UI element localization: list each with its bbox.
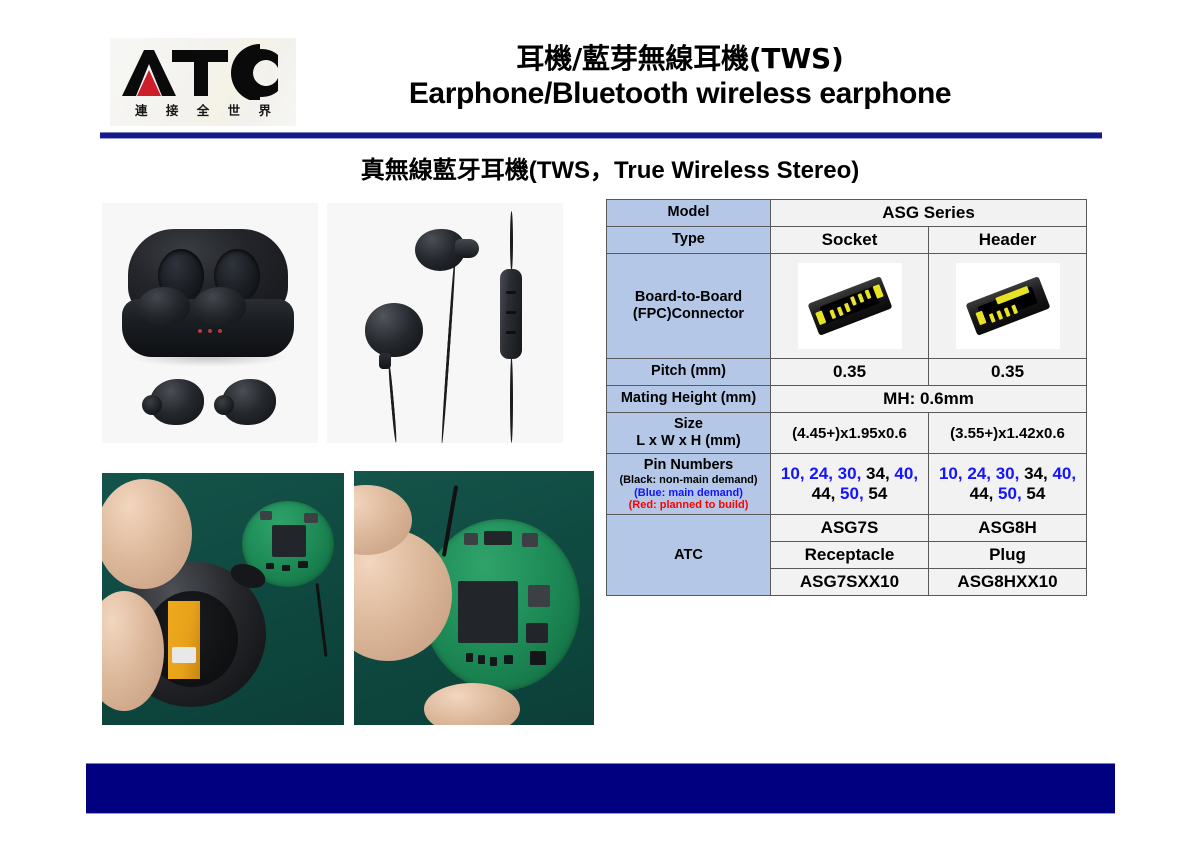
remote-button-up (506, 291, 516, 294)
earbud-in-case-right (194, 287, 246, 325)
pin-number: 44, (970, 484, 994, 503)
pin-number: 50, (998, 484, 1022, 503)
pcb-smd (282, 565, 290, 571)
row-label-connector-line1: Board-to-Board (611, 289, 766, 306)
case-led-3 (218, 329, 222, 333)
pin-number: 54 (1026, 484, 1045, 503)
row-label-size-line1: Size (611, 416, 766, 433)
table-row-connector: Board-to-Board (FPC)Connector (607, 254, 1087, 359)
pin-number: 10, (781, 464, 805, 483)
cell-atc-kind-socket: Receptacle (771, 542, 929, 569)
row-label-note-blue: (Blue: main demand) (611, 487, 766, 499)
cell-connector-header-image (929, 254, 1087, 359)
cell-connector-socket-image (771, 254, 929, 359)
row-label-note-red: (Red: planned to build) (611, 499, 766, 511)
earbud-in-case-left (138, 287, 190, 325)
connector-spec-table: Model ASG Series Type Socket Header Boar… (606, 199, 1087, 596)
header-connector-photo (956, 263, 1060, 349)
case-shadow (128, 355, 288, 367)
slide-header: 連 接 全 世 界 耳機/藍芽無線耳機(TWS) Earphone/Blueto… (0, 0, 1200, 132)
cell-model-value: ASG Series (771, 200, 1087, 227)
table-row-pin-numbers: Pin Numbers (Black: non-main demand) (Bl… (607, 454, 1087, 515)
cell-pitch-socket: 0.35 (771, 359, 929, 386)
pcb-main-chip (272, 525, 306, 557)
table-row-mating-height: Mating Height (mm) MH: 0.6mm (607, 386, 1087, 413)
pcb-smd (298, 561, 308, 568)
table-row-pitch: Pitch (mm) 0.35 0.35 (607, 359, 1087, 386)
earbud-loose-left (142, 379, 204, 425)
pcb-smd (490, 657, 497, 666)
cell-atc-pn-socket: ASG7SXX10 (771, 569, 929, 596)
fpc-flex-cable (168, 601, 200, 679)
pin-number: 40, (1052, 464, 1076, 483)
earbud-tip (214, 395, 234, 415)
footer-bar (86, 763, 1115, 814)
pin-number: 34, (866, 464, 890, 483)
remote-button-mid (506, 311, 516, 314)
fpc-connector-pads (172, 647, 196, 663)
cell-type-header: Header (929, 227, 1087, 254)
pin-number: 34, (1024, 464, 1048, 483)
cell-atc-kind-header: Plug (929, 542, 1087, 569)
pcb-component (260, 511, 272, 520)
earbud-tip (142, 395, 162, 415)
earbud-upper-nozzle (455, 239, 479, 258)
pin-number: 44, (812, 484, 836, 503)
pcb-fpc-connector (484, 531, 512, 545)
table-row-model: Model ASG Series (607, 200, 1087, 227)
cell-pitch-header: 0.35 (929, 359, 1087, 386)
pcb-smd (530, 651, 546, 665)
pcb-component (464, 533, 478, 545)
pin-number: 54 (868, 484, 887, 503)
pin-number: 50, (840, 484, 864, 503)
row-label-type: Type (607, 227, 771, 254)
photo-wired-earphone-with-remote (327, 203, 563, 443)
earphone-cord-upper (510, 211, 513, 271)
slide-title-en: Earphone/Bluetooth wireless earphone (300, 76, 1060, 112)
pcb-smd (466, 653, 473, 662)
row-label-note-black: (Black: non-main demand) (611, 474, 766, 486)
atc-logo-tagline: 連 接 全 世 界 (110, 100, 296, 119)
row-label-pin-numbers-title: Pin Numbers (611, 457, 766, 474)
cell-atc-part-header: ASG8H (929, 515, 1087, 542)
pin-number: 30, (996, 464, 1020, 483)
pcb-smd (266, 563, 274, 569)
earbud-lower (365, 303, 423, 357)
remote-button-down (506, 331, 516, 334)
header-connector-render (965, 276, 1050, 336)
inline-remote-control (500, 269, 522, 359)
row-label-pin-numbers: Pin Numbers (Black: non-main demand) (Bl… (607, 454, 771, 515)
pin-number: 24, (809, 464, 833, 483)
pcb-component (522, 533, 538, 547)
row-label-mating-height: Mating Height (mm) (607, 386, 771, 413)
pcb-smd (504, 655, 513, 664)
cell-atc-pn-header: ASG8HXX10 (929, 569, 1087, 596)
socket-connector-render (807, 276, 892, 336)
case-led-1 (198, 329, 202, 333)
photo-tws-earbuds-charging-case (102, 203, 318, 443)
table-row-atc-part: ATC ASG7S ASG8H (607, 515, 1087, 542)
cell-pin-numbers-header: 10, 24, 30, 34, 40, 44, 50, 54 (929, 454, 1087, 515)
earbud-lower-stem (379, 353, 391, 369)
slide-title-cn: 耳機/藍芽無線耳機(TWS) (300, 42, 1060, 75)
header-divider-rule (100, 132, 1102, 139)
row-label-connector: Board-to-Board (FPC)Connector (607, 254, 771, 359)
row-label-size: Size L x W x H (mm) (607, 413, 771, 454)
atc-logo: 連 接 全 世 界 (110, 38, 296, 126)
earphone-cord-lower (510, 357, 513, 443)
section-subtitle-cn: 真無線藍牙耳機 (361, 156, 529, 184)
pin-number: 24, (967, 464, 991, 483)
section-subtitle-en: (TWS，True Wireless Stereo) (529, 157, 860, 184)
table-row-type: Type Socket Header (607, 227, 1087, 254)
pcb-component (304, 513, 318, 523)
photo-earbud-teardown-fpc-connector (102, 473, 344, 725)
row-label-size-line2: L x W x H (mm) (611, 433, 766, 450)
row-label-atc: ATC (607, 515, 771, 596)
cell-atc-part-socket: ASG7S (771, 515, 929, 542)
row-label-model: Model (607, 200, 771, 227)
earbud-loose-right (214, 379, 276, 425)
slide-title: 耳機/藍芽無線耳機(TWS) Earphone/Bluetooth wirele… (300, 42, 1060, 112)
cell-mating-height-value: MH: 0.6mm (771, 386, 1087, 413)
pcb-bluetooth-soc (458, 581, 518, 643)
cell-pin-numbers-socket: 10, 24, 30, 34, 40, 44, 50, 54 (771, 454, 929, 515)
table-row-size: Size L x W x H (mm) (4.45+)x1.95x0.6 (3.… (607, 413, 1087, 454)
cell-size-header: (3.55+)x1.42x0.6 (929, 413, 1087, 454)
row-label-connector-line2: (FPC)Connector (611, 306, 766, 323)
pcb-smd (478, 655, 485, 664)
cell-type-socket: Socket (771, 227, 929, 254)
case-led-2 (208, 329, 212, 333)
socket-connector-photo (798, 263, 902, 349)
atc-logo-mark (110, 42, 296, 100)
pin-number: 30, (838, 464, 862, 483)
section-subtitle: 真無線藍牙耳機(TWS，True Wireless Stereo) (250, 150, 970, 185)
pin-number: 10, (939, 464, 963, 483)
pcb-component (526, 623, 548, 643)
pin-number: 40, (894, 464, 918, 483)
row-label-pitch: Pitch (mm) (607, 359, 771, 386)
pcb-component (528, 585, 550, 607)
photo-earbud-pcb-module-closeup (354, 471, 594, 725)
cell-size-socket: (4.45+)x1.95x0.6 (771, 413, 929, 454)
